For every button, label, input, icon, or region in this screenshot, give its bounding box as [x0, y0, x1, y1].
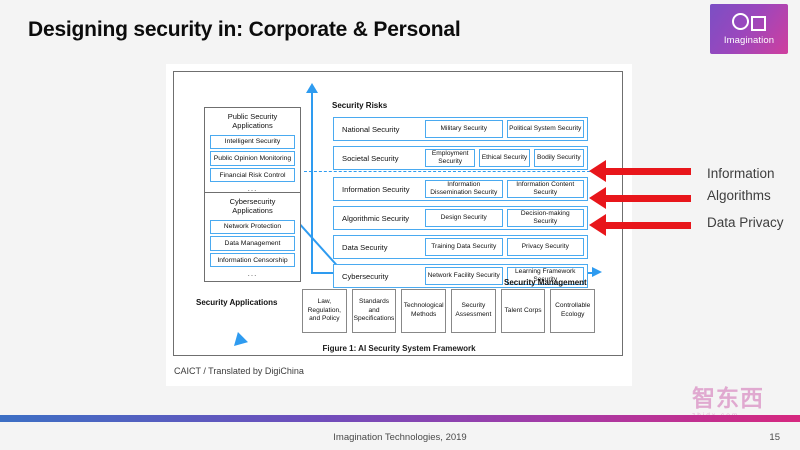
panel-ellipsis: ...	[210, 270, 295, 278]
watermark-mark: 智东西	[692, 386, 784, 412]
security-risks-axis-label: Security Risks	[332, 101, 387, 110]
annotation-arrow-shaft-algorithms	[606, 195, 691, 202]
figure-frame: Public Security Applications Intelligent…	[173, 71, 623, 356]
risk-subitem: Training Data Security	[425, 238, 503, 256]
risk-subitem: Design Security	[425, 209, 503, 227]
vertical-axis-arrowhead-icon	[306, 83, 318, 93]
risk-subitems: Training Data Security Privacy Security	[425, 238, 584, 256]
panel-title-line2: Applications	[210, 206, 295, 215]
footer-text: Imagination Technologies, 2019	[0, 432, 800, 443]
risk-row-data-security: Data Security Training Data Security Pri…	[333, 235, 588, 259]
management-cell: Standards and Specifications	[352, 289, 397, 333]
annotation-arrow-head-algorithms-icon	[589, 187, 606, 209]
risk-subitem: Military Security	[425, 120, 503, 138]
watermark: 智东西 zhidx.com	[692, 386, 784, 432]
panel-public-security-applications: Public Security Applications Intelligent…	[204, 107, 301, 197]
figure-card: Public Security Applications Intelligent…	[166, 64, 632, 386]
page-title: Designing security in: Corporate & Perso…	[28, 18, 461, 42]
annotation-label-data-privacy: Data Privacy	[707, 215, 784, 230]
risk-row-label: National Security	[337, 125, 425, 134]
panel-item: Financial Risk Control	[210, 168, 295, 182]
panel-item: Data Management	[210, 236, 295, 250]
security-management-axis-label: Security Management	[504, 278, 587, 287]
annotation-arrow-head-data-privacy-icon	[589, 214, 606, 236]
panel-title: Public Security Applications	[210, 112, 295, 131]
risk-row-label: Cybersecurity	[337, 272, 425, 281]
risk-row-label: Data Security	[337, 243, 425, 252]
risk-subitem: Privacy Security	[507, 238, 585, 256]
panel-cybersecurity-applications: Cybersecurity Applications Network Prote…	[204, 192, 301, 282]
panel-item: Intelligent Security	[210, 135, 295, 149]
risk-row-algorithmic-security: Algorithmic Security Design Security Dec…	[333, 206, 588, 230]
risk-row-information-security: Information Security Information Dissemi…	[333, 177, 588, 201]
panel-item: Information Censorship	[210, 253, 295, 267]
figure-caption: Figure 1: AI Security System Framework	[166, 344, 632, 353]
risk-subitems: Military Security Political System Secur…	[425, 120, 584, 138]
security-management-row: Law, Regulation, and Policy Standards an…	[302, 289, 595, 333]
risk-subitem: Decision-making Security	[507, 209, 585, 227]
page-number: 15	[769, 432, 780, 443]
imagination-logo: Imagination	[710, 4, 788, 54]
panel-title-line1: Cybersecurity	[210, 197, 295, 206]
risk-row-label: Information Security	[337, 185, 425, 194]
management-cell: Security Assessment	[451, 289, 496, 333]
footer-gradient-bar	[0, 415, 800, 422]
risk-subitem: Bodily Security	[534, 149, 584, 167]
management-cell: Law, Regulation, and Policy	[302, 289, 347, 333]
annotation-label-information: Information	[707, 166, 775, 181]
risk-subitems: Information Dissemination Security Infor…	[425, 180, 584, 198]
risk-subitem: Employment Security	[425, 149, 475, 167]
management-cell: Talent Corps	[501, 289, 546, 333]
risk-subitem: Political System Security	[507, 120, 585, 138]
horizontal-axis-arrowhead-icon	[592, 267, 602, 277]
risk-row-label: Algorithmic Security	[337, 214, 425, 223]
figure-source-credit: CAICT / Translated by DigiChina	[174, 366, 304, 376]
risk-subitem: Ethical Security	[479, 149, 529, 167]
panel-title-line1: Public Security	[210, 112, 295, 121]
security-applications-axis-label: Security Applications	[196, 298, 278, 307]
risk-subitem: Information Dissemination Security	[425, 180, 503, 198]
panel-title-line2: Applications	[210, 121, 295, 130]
risk-subitem: Network Facility Security	[425, 267, 503, 285]
risk-subitems: Design Security Decision-making Security	[425, 209, 584, 227]
management-cell: Technological Methods	[401, 289, 446, 333]
risk-subitem: Information Content Security	[507, 180, 585, 198]
panel-item: Network Protection	[210, 220, 295, 234]
logo-circle-icon	[732, 13, 749, 30]
panel-item: Public Opinion Monitoring	[210, 151, 295, 165]
annotation-arrow-shaft-information	[606, 168, 691, 175]
risk-row-national-security: National Security Military Security Poli…	[333, 117, 588, 141]
annotation-label-algorithms: Algorithms	[707, 188, 771, 203]
risk-subitems: Employment Security Ethical Security Bod…	[425, 149, 584, 167]
management-cell: Controllable Ecology	[550, 289, 595, 333]
logo-mark-icon	[732, 13, 766, 33]
risk-row-societal-security: Societal Security Employment Security Et…	[333, 146, 588, 170]
vertical-axis-line	[311, 91, 313, 274]
logo-square-icon	[751, 16, 766, 31]
slide-canvas: Designing security in: Corporate & Perso…	[0, 0, 800, 450]
logo-wordmark: Imagination	[724, 35, 774, 46]
dashed-separator	[304, 171, 595, 172]
annotation-arrow-shaft-data-privacy	[606, 222, 691, 229]
annotation-arrow-head-information-icon	[589, 160, 606, 182]
risk-row-label: Societal Security	[337, 154, 425, 163]
panel-title: Cybersecurity Applications	[210, 197, 295, 216]
